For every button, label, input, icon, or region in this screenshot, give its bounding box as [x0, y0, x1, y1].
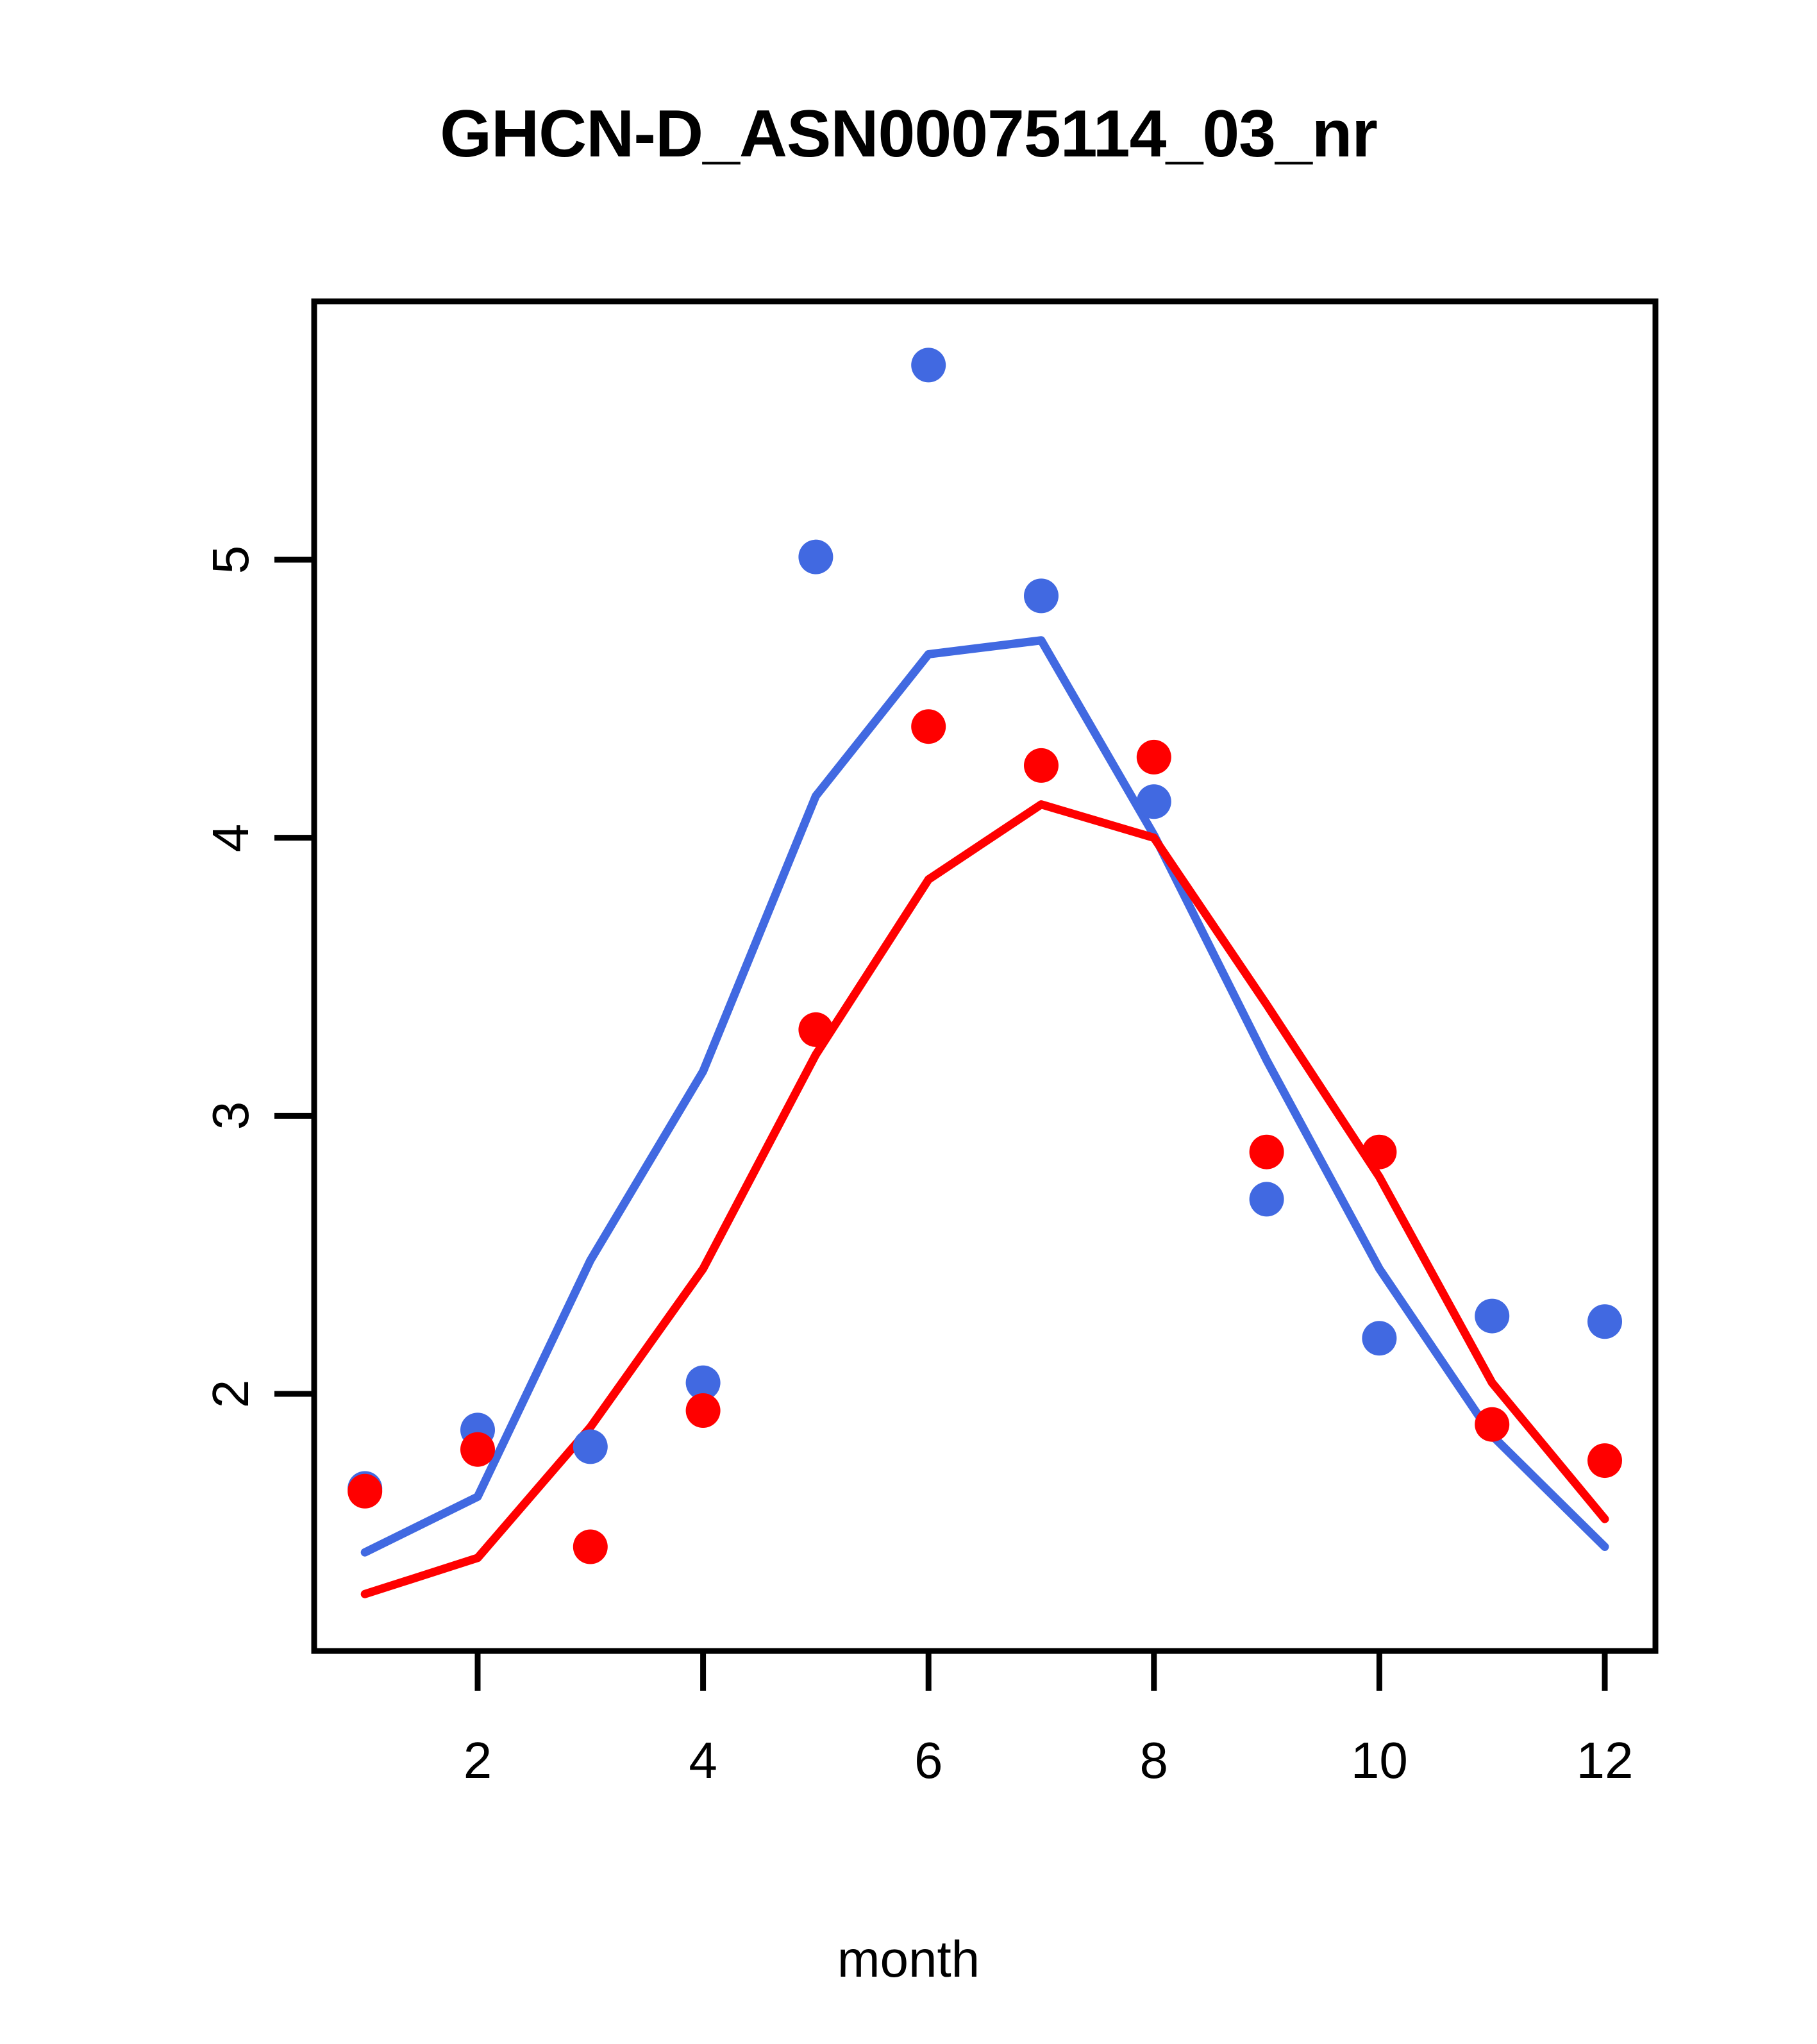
y-tick-label: 5 — [201, 546, 260, 574]
y-tick-label: 3 — [201, 1102, 260, 1130]
x-tick-label: 10 — [1351, 1731, 1408, 1790]
plot-area — [0, 0, 1817, 2044]
data-point-red-points — [573, 1530, 608, 1564]
data-point-red-points — [911, 709, 946, 744]
data-point-red-points — [347, 1474, 382, 1509]
data-point-red-points — [1587, 1443, 1622, 1478]
x-axis-title: month — [0, 1930, 1817, 1989]
x-axis-ticks — [478, 1651, 1605, 1691]
data-point-red-points — [1137, 740, 1171, 775]
data-point-blue-points — [1137, 784, 1171, 819]
data-lines — [365, 641, 1605, 1594]
chart-figure: GHCN-D_ASN00075114_03_nr month 24681012 … — [0, 0, 1817, 2044]
series-line-red-line — [365, 805, 1605, 1595]
y-tick-label: 4 — [201, 823, 260, 852]
data-point-blue-points — [573, 1429, 608, 1464]
x-tick-label: 12 — [1577, 1731, 1634, 1790]
plot-box — [314, 301, 1655, 1651]
data-point-blue-points — [1475, 1299, 1509, 1334]
data-point-red-points — [460, 1432, 495, 1467]
x-tick-label: 6 — [914, 1731, 943, 1790]
plot-border — [314, 301, 1655, 1651]
data-point-red-points — [1475, 1407, 1509, 1442]
x-tick-label: 8 — [1140, 1731, 1169, 1790]
data-point-blue-points — [1250, 1182, 1284, 1216]
data-point-blue-points — [911, 348, 946, 382]
data-points — [347, 348, 1622, 1564]
data-point-red-points — [1362, 1135, 1396, 1169]
data-point-red-points — [1024, 748, 1059, 783]
series-line-blue-line — [365, 641, 1605, 1552]
data-point-blue-points — [1024, 578, 1059, 613]
data-point-red-points — [1250, 1135, 1284, 1169]
y-tick-label: 2 — [201, 1380, 260, 1409]
y-axis-ticks — [274, 560, 314, 1394]
x-tick-label: 2 — [464, 1731, 492, 1790]
data-point-red-points — [686, 1393, 721, 1428]
data-point-blue-points — [1362, 1321, 1396, 1355]
data-point-blue-points — [1587, 1304, 1622, 1339]
x-tick-label: 4 — [689, 1731, 717, 1790]
data-point-red-points — [798, 1012, 833, 1047]
data-point-blue-points — [798, 540, 833, 574]
